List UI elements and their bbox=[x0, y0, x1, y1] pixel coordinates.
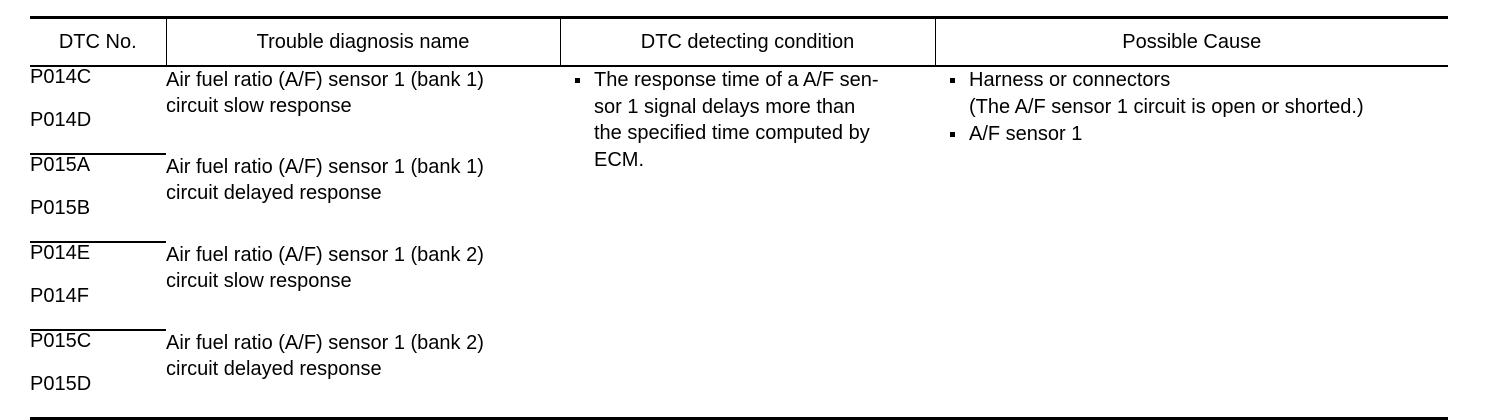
trouble-diagnosis-name-cell: Air fuel ratio (A/F) sensor 1 (bank 1) c… bbox=[166, 154, 560, 242]
column-header-dtc-no: DTC No. bbox=[30, 18, 166, 67]
possible-cause-detail: (The A/F sensor 1 circuit is open or sho… bbox=[969, 94, 1440, 121]
dtc-number-cell: P015B bbox=[30, 198, 166, 242]
column-header-trouble-diagnosis-name: Trouble diagnosis name bbox=[166, 18, 560, 67]
trouble-diagnosis-name-cell: Air fuel ratio (A/F) sensor 1 (bank 1) c… bbox=[166, 66, 560, 154]
table-body: P014C Air fuel ratio (A/F) sensor 1 (ban… bbox=[30, 66, 1448, 419]
column-header-possible-cause: Possible Cause bbox=[935, 18, 1448, 67]
column-header-dtc-detecting-condition: DTC detecting condition bbox=[560, 18, 935, 67]
list-item: The response time of a A/F sen- sor 1 si… bbox=[572, 67, 927, 173]
dtc-number-cell: P014C bbox=[30, 66, 166, 110]
trouble-diagnosis-name-cell: Air fuel ratio (A/F) sensor 1 (bank 2) c… bbox=[166, 242, 560, 330]
list-item: Harness or connectors (The A/F sensor 1 … bbox=[947, 67, 1440, 120]
possible-cause-list: Harness or connectors (The A/F sensor 1 … bbox=[935, 67, 1448, 148]
table-row: P014C Air fuel ratio (A/F) sensor 1 (ban… bbox=[30, 66, 1448, 110]
table-header-row: DTC No. Trouble diagnosis name DTC detec… bbox=[30, 18, 1448, 67]
possible-cause-text: Harness or connectors bbox=[969, 69, 1170, 91]
dtc-number-cell: P015C bbox=[30, 330, 166, 374]
dtc-number-cell: P015D bbox=[30, 374, 166, 419]
dtc-number-cell: P015A bbox=[30, 154, 166, 198]
trouble-diagnosis-name-cell: Air fuel ratio (A/F) sensor 1 (bank 2) c… bbox=[166, 330, 560, 419]
dtc-number-cell: P014E bbox=[30, 242, 166, 286]
list-item: A/F sensor 1 bbox=[947, 121, 1440, 148]
dtc-number-cell: P014D bbox=[30, 110, 166, 154]
possible-cause-cell: Harness or connectors (The A/F sensor 1 … bbox=[935, 66, 1448, 419]
dtc-number-cell: P014F bbox=[30, 286, 166, 330]
dtc-table-container: DTC No. Trouble diagnosis name DTC detec… bbox=[30, 16, 1448, 402]
table-header: DTC No. Trouble diagnosis name DTC detec… bbox=[30, 18, 1448, 67]
dtc-detecting-condition-cell: The response time of a A/F sen- sor 1 si… bbox=[560, 66, 935, 419]
possible-cause-text: A/F sensor 1 bbox=[969, 123, 1082, 145]
detecting-condition-list: The response time of a A/F sen- sor 1 si… bbox=[560, 67, 935, 173]
dtc-diagnosis-table: DTC No. Trouble diagnosis name DTC detec… bbox=[30, 16, 1448, 420]
